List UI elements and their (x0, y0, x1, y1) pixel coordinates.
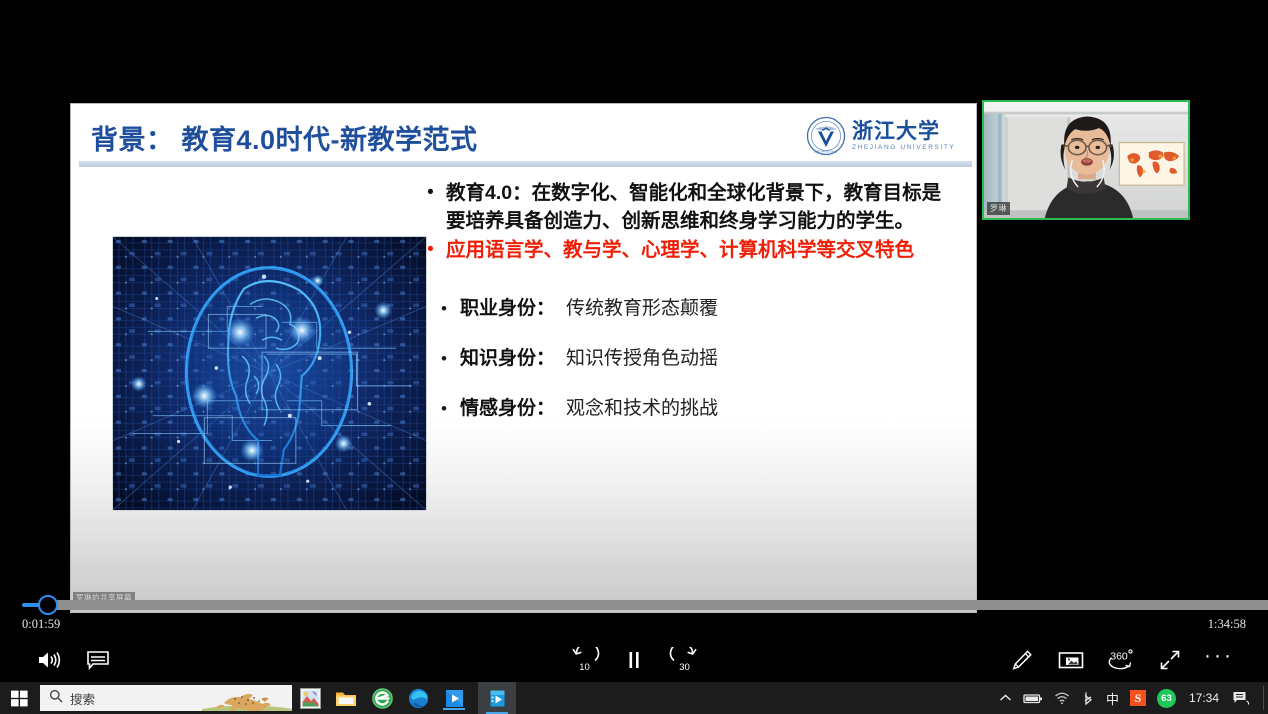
taskbar-app-media-blue[interactable] (442, 686, 466, 710)
webcam-video (984, 102, 1188, 218)
bullet-text: 教育4.0：在数字化、智能化和全球化背景下，教育目标是要培养具备创造力、创新思维… (446, 180, 956, 235)
svg-text:10: 10 (579, 662, 590, 673)
taskbar: 搜索 (0, 682, 1268, 714)
sogou-label: S (1130, 690, 1146, 706)
svg-text:360: 360 (1110, 650, 1128, 662)
slide-title: 背景： 教育4.0时代-新教学范式 (91, 118, 478, 157)
view-360-icon[interactable]: 360 (1097, 637, 1143, 682)
logo-english-name: ZHEJIANG UNIVERSITY (852, 145, 955, 152)
title-divider (79, 161, 972, 167)
picture-in-picture-icon[interactable] (1048, 637, 1094, 682)
blue-play-icon (444, 688, 465, 709)
university-logo: ZHEJIANG UNIV. 浙江大学 ZHEJIANG UNIVERSITY (806, 114, 958, 158)
list-item: • 情感身份： 观念和技术的挑战 (426, 393, 956, 420)
list-item: • 知识身份： 知识传授角色动摇 (426, 343, 956, 370)
search-icon (49, 689, 63, 708)
bullet-dot-icon: • (426, 180, 435, 235)
bullet-dot-icon: • (441, 299, 449, 319)
slide-body: • 教育4.0：在数字化、智能化和全球化背景下，教育目标是要培养具备创造力、创新… (426, 180, 956, 443)
edge-icon (408, 688, 429, 709)
bluetooth-icon[interactable] (1081, 682, 1095, 714)
system-tray: 中 S 63 17:34 (999, 682, 1264, 714)
status-badge: 63 (1157, 689, 1176, 708)
seek-handle[interactable] (38, 595, 58, 615)
sub-bullet-value: 知识传授角色动摇 (566, 343, 718, 370)
ie-e-icon (372, 688, 393, 709)
screen: 背景： 教育4.0时代-新教学范式 ZHEJIANG UNIV. 浙江大学 ZH… (0, 0, 1268, 714)
exit-fullscreen-icon[interactable] (1147, 637, 1193, 682)
main-bullet-list: • 教育4.0：在数字化、智能化和全球化背景下，教育目标是要培养具备创造力、创新… (426, 180, 956, 265)
taskbar-app-video-player[interactable] (478, 682, 516, 714)
ai-brain-circuit-image (112, 236, 427, 511)
captions-icon[interactable] (75, 637, 121, 682)
sub-bullet-key: 知识身份： (460, 343, 555, 370)
photo-gallery-icon (300, 688, 321, 709)
folder-icon (335, 688, 357, 708)
video-player-icon (487, 688, 508, 709)
more-options-label: ··· (1204, 645, 1234, 674)
sub-bullet-key: 职业身份： (460, 293, 555, 320)
logo-chinese-name: 浙江大学 (852, 121, 955, 142)
svg-text:ZHEJIANG UNIV.: ZHEJIANG UNIV. (814, 150, 838, 154)
chevron-up-icon[interactable] (999, 682, 1012, 714)
bullet-dot-icon: • (441, 399, 449, 419)
search-placeholder: 搜索 (70, 689, 95, 708)
seek-track-remaining[interactable] (56, 600, 1268, 610)
windows-start-icon[interactable] (0, 682, 38, 714)
pencil-annotate-icon[interactable] (999, 637, 1045, 682)
svg-text:30: 30 (679, 662, 690, 673)
bullet-item: • 应用语言学、教与学、心理学、计算机科学等交叉特色 (426, 237, 956, 265)
sub-bullet-value: 观念和技术的挑战 (566, 393, 718, 420)
taskbar-app-file-explorer[interactable] (334, 686, 358, 710)
bullet-dot-icon: • (426, 237, 435, 265)
pause-icon[interactable] (611, 637, 657, 682)
seek-bar[interactable] (0, 596, 1268, 614)
wifi-icon[interactable] (1054, 682, 1070, 714)
taskbar-app-picture-viewer[interactable] (298, 686, 322, 710)
taskbar-app-edge[interactable] (406, 686, 430, 710)
volume-icon[interactable] (26, 637, 72, 682)
taskbar-apps (298, 682, 516, 714)
security-score-badge[interactable]: 63 (1157, 682, 1176, 714)
zju-emblem-icon: ZHEJIANG UNIV. (806, 116, 846, 156)
taskbar-app-internet-explorer[interactable] (370, 686, 394, 710)
player-controls: 10 30 (0, 637, 1268, 682)
total-duration: 1:34:58 (1208, 617, 1246, 632)
bullet-item: • 教育4.0：在数字化、智能化和全球化背景下，教育目标是要培养具备创造力、创新… (426, 180, 956, 235)
rewind-10-icon[interactable]: 10 (562, 637, 608, 682)
bullet-text: 应用语言学、教与学、心理学、计算机科学等交叉特色 (446, 237, 914, 265)
clock[interactable]: 17:34 (1187, 682, 1221, 714)
search-input[interactable]: 搜索 (40, 685, 292, 711)
battery-icon[interactable] (1023, 682, 1043, 714)
bullet-dot-icon: • (441, 349, 449, 369)
participant-name-label: 罗琳 (987, 202, 1010, 215)
sub-bullet-list: • 职业身份： 传统教育形态颠覆 • 知识身份： 知识传授角色动摇 • 情感身份… (426, 293, 956, 420)
more-options-icon[interactable]: ··· (1196, 637, 1242, 682)
sogou-input-icon[interactable]: S (1130, 682, 1146, 714)
notification-icon[interactable] (1232, 682, 1264, 714)
tray-divider (1263, 686, 1264, 710)
sub-bullet-key: 情感身份： (460, 393, 555, 420)
webcam-thumbnail[interactable]: 罗琳 (982, 100, 1190, 220)
cheetah-artwork (202, 685, 292, 711)
shared-screen-slide[interactable]: 背景： 教育4.0时代-新教学范式 ZHEJIANG UNIV. 浙江大学 ZH… (70, 103, 977, 613)
sub-bullet-value: 传统教育形态颠覆 (566, 293, 718, 320)
list-item: • 职业身份： 传统教育形态颠覆 (426, 293, 956, 320)
elapsed-time: 0:01:59 (22, 617, 60, 632)
forward-30-icon[interactable]: 30 (661, 637, 707, 682)
ime-indicator[interactable]: 中 (1106, 682, 1119, 714)
